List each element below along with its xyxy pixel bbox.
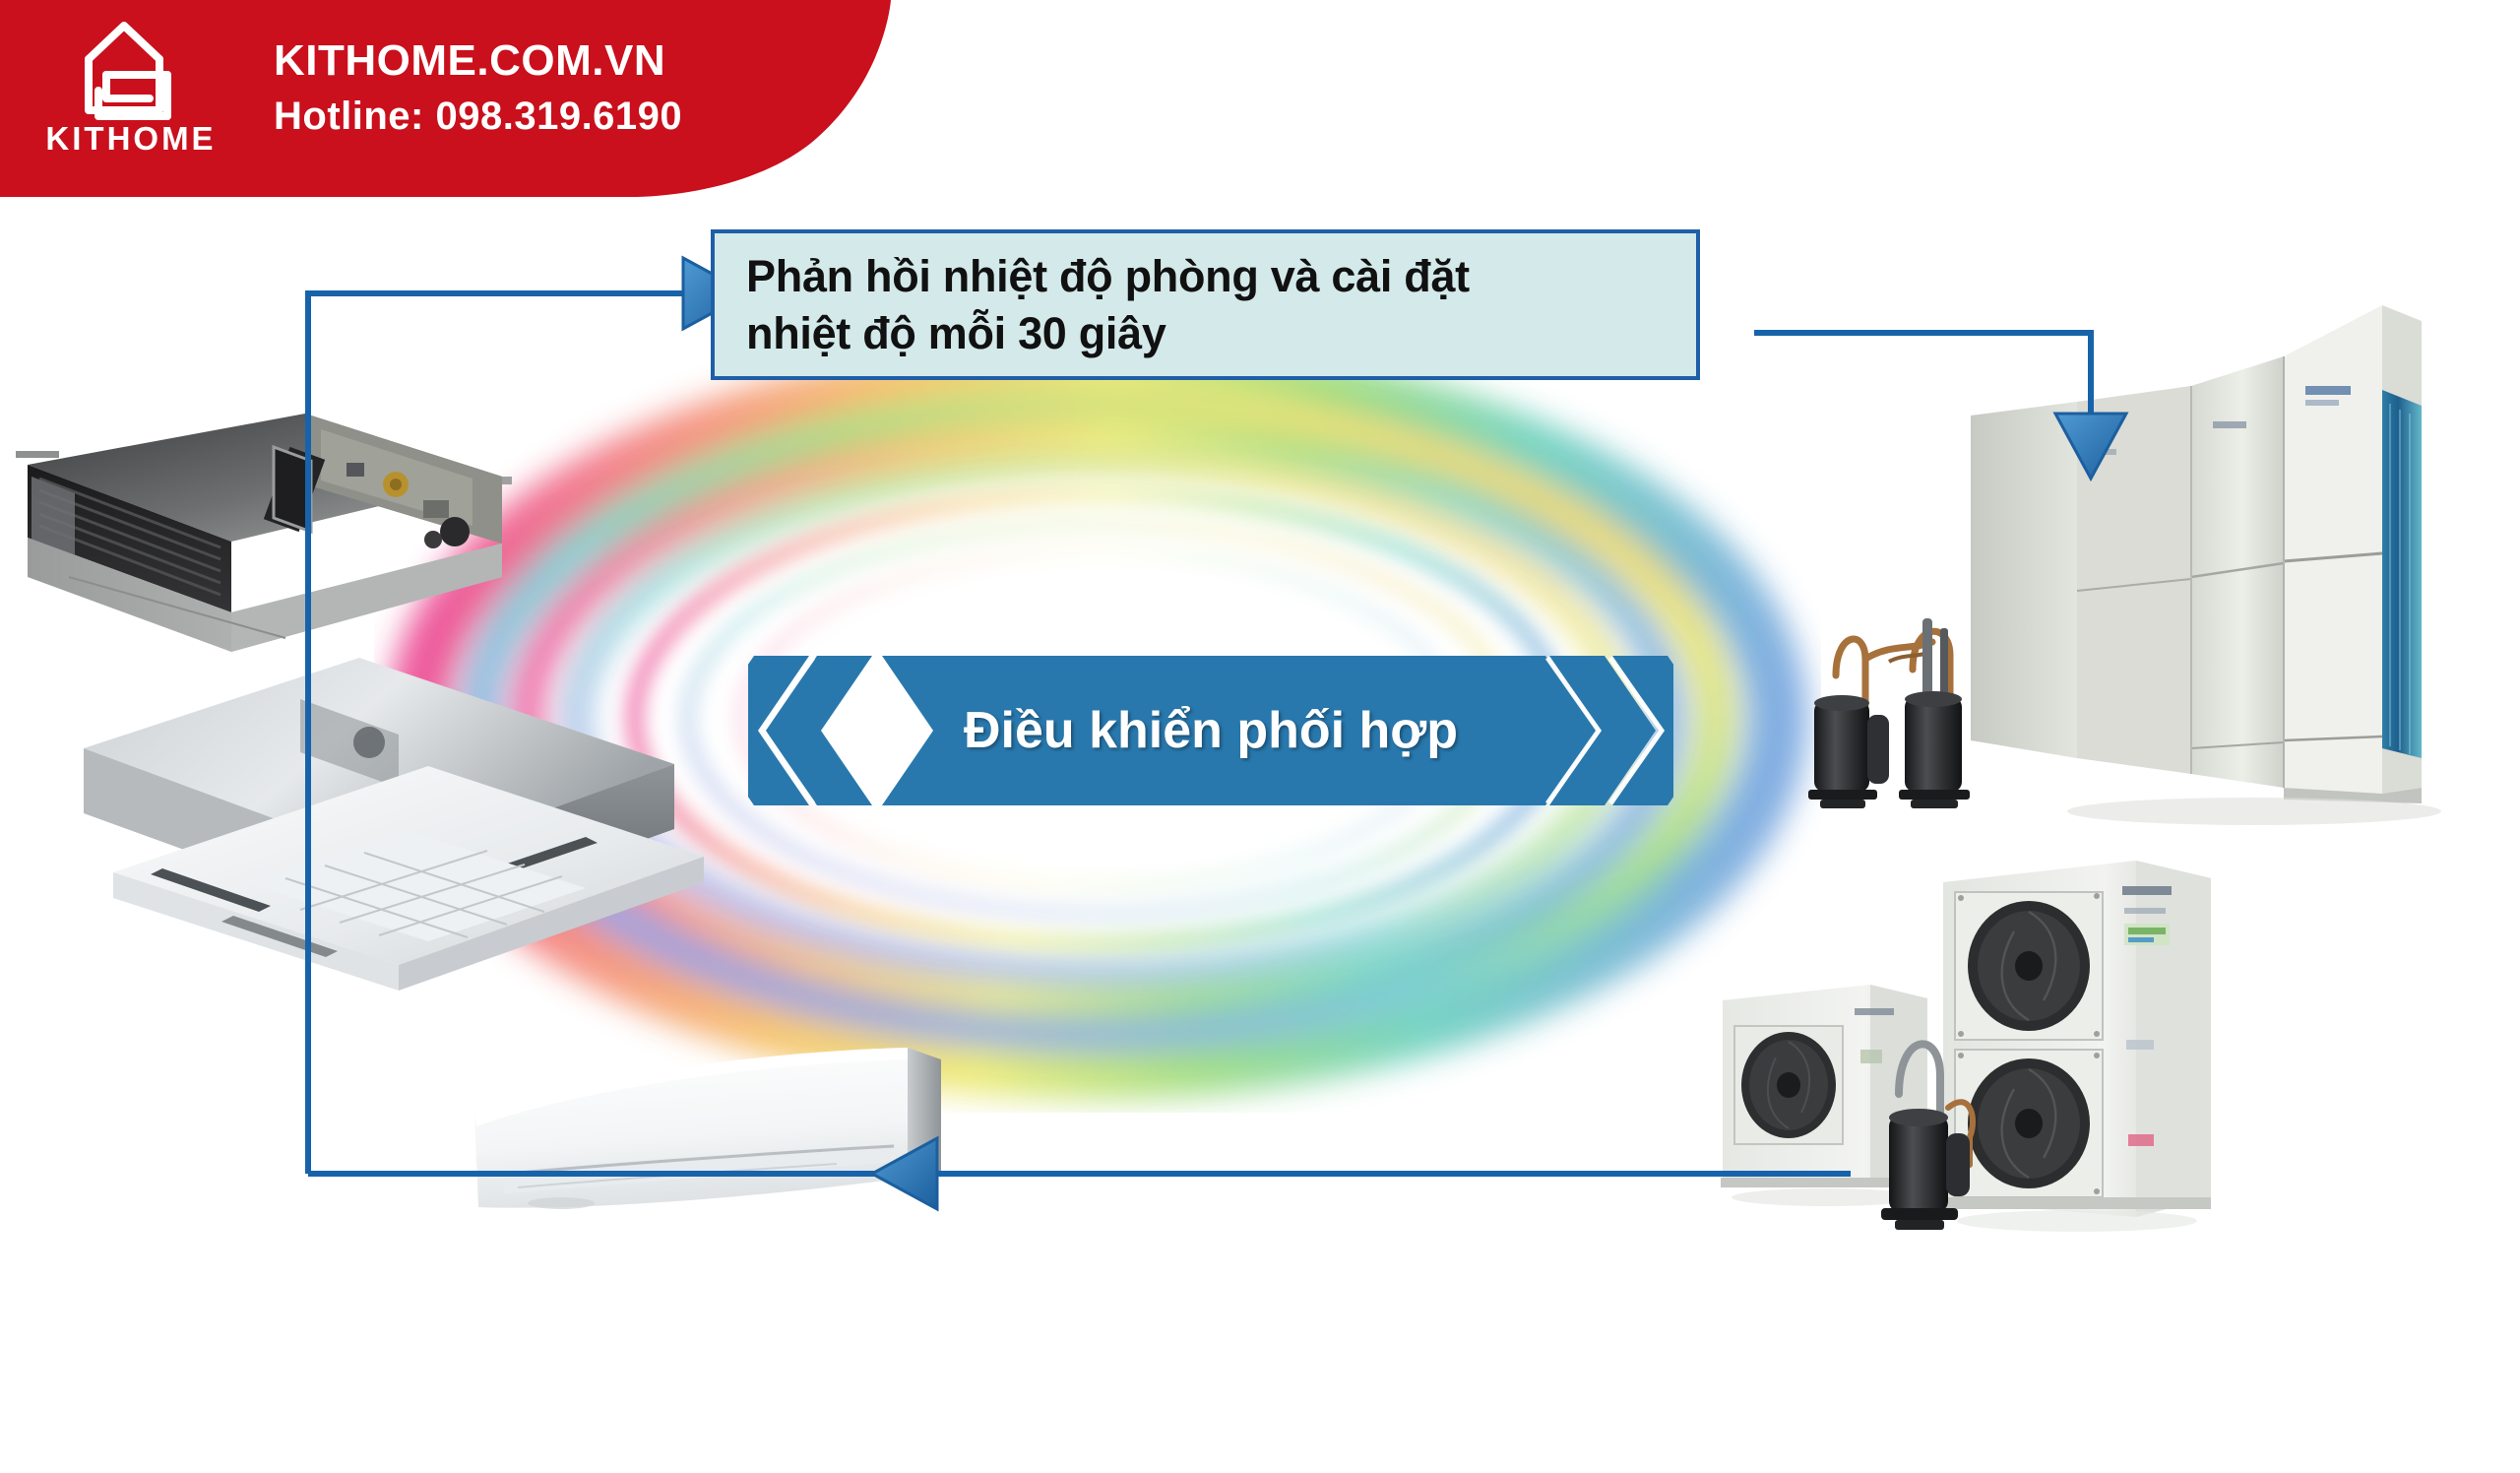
kithome-house-logo-icon xyxy=(65,14,183,122)
ducted-indoor-unit xyxy=(10,394,522,679)
vrf-outdoor-unit xyxy=(1959,295,2461,847)
center-chevron-banner: Điều khiển phối hợp xyxy=(748,656,1673,805)
brand-header-banner: KITHOME KITHOME.COM.VN Hotline: 098.319.… xyxy=(0,0,1014,197)
brand-website: KITHOME.COM.VN xyxy=(274,35,682,87)
callout-line-2: nhiệt độ mỗi 30 giây xyxy=(746,305,1470,362)
brand-wordmark: KITHOME xyxy=(37,120,224,158)
cassette-indoor-unit xyxy=(74,640,743,1034)
callout-line-1: Phản hồi nhiệt độ phòng và cài đặt xyxy=(746,248,1470,305)
wall-mounted-indoor-unit xyxy=(463,1024,965,1250)
callout-text: Phản hồi nhiệt độ phòng và cài đặt nhiệt… xyxy=(746,248,1470,361)
compressor-group-upper xyxy=(1806,599,2013,820)
callout-box: Phản hồi nhiệt độ phòng và cài đặt nhiệt… xyxy=(711,229,1700,380)
diagram-canvas: Phản hồi nhiệt độ phòng và cài đặt nhiệt… xyxy=(0,0,2520,1473)
brand-contact-block: KITHOME.COM.VN Hotline: 098.319.6190 xyxy=(274,35,682,142)
brand-logo: KITHOME xyxy=(37,14,224,181)
center-banner-label: Điều khiển phối hợp xyxy=(748,656,1673,805)
brand-hotline: Hotline: 098.319.6190 xyxy=(274,91,682,142)
compressor-lower xyxy=(1875,999,2013,1236)
